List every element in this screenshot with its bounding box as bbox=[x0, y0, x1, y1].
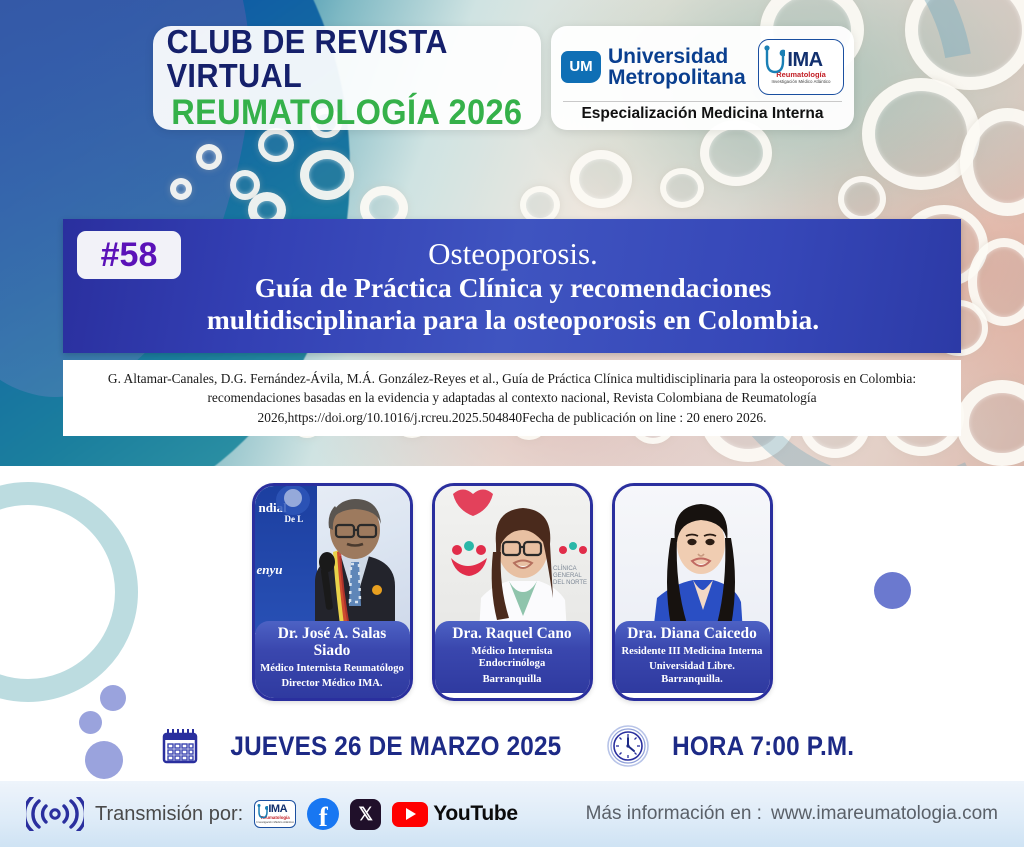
svg-text:DEL NORTE: DEL NORTE bbox=[553, 580, 587, 586]
calendar-icon bbox=[160, 726, 200, 766]
speaker-name: Dra. Raquel Cano bbox=[438, 626, 587, 643]
ima-wordmark: IMA bbox=[268, 804, 287, 815]
svg-text:CLÍNICA: CLÍNICA bbox=[553, 565, 577, 572]
club-title-line2: REUMATOLOGÍA 2026 bbox=[171, 95, 522, 131]
event-time-item: HORA 7:00 P.M. bbox=[606, 724, 864, 768]
svg-text:GENERAL: GENERAL bbox=[553, 573, 582, 579]
youtube-label: YouTube bbox=[433, 802, 518, 826]
poster-root: CLUB DE REVISTA VIRTUAL REUMATOLOGÍA 202… bbox=[0, 0, 1024, 847]
speaker-role-line2: Director Médico IMA. bbox=[258, 678, 407, 691]
university-name-line2: Metropolitana bbox=[608, 67, 746, 88]
article-title-line1: Osteoporosis. bbox=[83, 236, 943, 271]
article-title: Osteoporosis. Guía de Práctica Clínica y… bbox=[63, 236, 961, 335]
event-time-text: HORA 7:00 P.M. bbox=[672, 731, 854, 762]
footer-bar: Transmisión por: IMA Reumatología Invest… bbox=[0, 781, 1024, 847]
facebook-icon[interactable]: f bbox=[307, 798, 339, 830]
article-title-line2: Guía de Práctica Clínica y recomendacion… bbox=[83, 272, 943, 304]
broadcast-label: Transmisión por: bbox=[95, 803, 243, 826]
article-title-line3: multidisciplinaria para la osteoporosis … bbox=[83, 304, 943, 336]
university-name: Universidad Metropolitana bbox=[608, 46, 746, 88]
more-info-label: Más información en : bbox=[586, 803, 762, 825]
clock-icon bbox=[606, 724, 650, 768]
logo-divider bbox=[563, 101, 842, 102]
x-twitter-icon[interactable]: 𝕏 bbox=[350, 799, 381, 830]
broadcast-group: Transmisión por: IMA Reumatología Invest… bbox=[26, 797, 518, 831]
speaker-photo bbox=[615, 486, 770, 633]
ima-logo-footer[interactable]: IMA Reumatología Investigación Médico At… bbox=[254, 800, 296, 828]
speaker-role-line1: Residente III Medicina Interna bbox=[618, 646, 767, 659]
stethoscope-icon bbox=[763, 45, 785, 85]
ima-wordmark: IMA bbox=[787, 50, 822, 70]
speaker-nameplate: Dr. José A. Salas Siado Médico Internist… bbox=[255, 621, 410, 698]
institution-logo-pill: UM Universidad Metropolitana IMA Reumato… bbox=[551, 26, 854, 130]
speakers-row: ndial De L enyu bbox=[0, 483, 1024, 701]
broadcast-icon bbox=[26, 797, 84, 831]
speaker-name: Dr. José A. Salas Siado bbox=[258, 626, 407, 660]
article-title-line3-plain: multidisciplinaria para la bbox=[207, 304, 513, 335]
university-metropolitana-mark-icon: UM bbox=[561, 51, 601, 83]
youtube-link[interactable]: YouTube bbox=[392, 802, 518, 827]
speaker-nameplate: Dra. Diana Caicedo Residente III Medicin… bbox=[615, 621, 770, 693]
more-info-group: Más información en : www.imareumatologia… bbox=[586, 803, 998, 825]
speaker-card[interactable]: ndial De L enyu bbox=[252, 483, 413, 701]
speaker-card[interactable]: CLÍNICA GENERAL DEL NORTE bbox=[432, 483, 593, 701]
speaker-card[interactable]: Dra. Diana Caicedo Residente III Medicin… bbox=[612, 483, 773, 701]
event-date-item: JUEVES 26 DE MARZO 2025 bbox=[160, 726, 580, 766]
episode-number-badge: #58 bbox=[77, 231, 181, 279]
speaker-name: Dra. Diana Caicedo bbox=[618, 626, 767, 643]
ima-logo: IMA Reumatología Investigación Médico At… bbox=[758, 39, 844, 95]
club-title-line1: CLUB DE REVISTA VIRTUAL bbox=[167, 25, 528, 92]
speaker-role-line1: Médico Internista Endocrinóloga bbox=[438, 646, 587, 671]
article-title-line3-bold: osteoporosis en Colombia. bbox=[513, 304, 819, 335]
event-datetime-row: JUEVES 26 DE MARZO 2025 HORA 7:00 P.M. bbox=[0, 718, 1024, 774]
speaker-nameplate: Dra. Raquel Cano Médico Internista Endoc… bbox=[435, 621, 590, 693]
logo-row: UM Universidad Metropolitana IMA Reumato… bbox=[561, 34, 844, 100]
speaker-role-line2: Barranquilla bbox=[438, 674, 587, 687]
youtube-play-icon bbox=[392, 802, 428, 827]
article-title-banner: #58 Osteoporosis. Guía de Práctica Clíni… bbox=[63, 219, 961, 353]
speaker-photo: CLÍNICA GENERAL DEL NORTE bbox=[435, 486, 590, 633]
speaker-photo: ndial De L enyu bbox=[255, 486, 410, 633]
citation-box: G. Altamar-Canales, D.G. Fernández-Ávila… bbox=[63, 360, 961, 436]
event-title-pill: CLUB DE REVISTA VIRTUAL REUMATOLOGÍA 202… bbox=[153, 26, 541, 130]
stethoscope-icon bbox=[257, 804, 268, 824]
event-date-text: JUEVES 26 DE MARZO 2025 bbox=[230, 731, 561, 762]
speaker-role-line1: Médico Internista Reumatólogo bbox=[258, 663, 407, 676]
university-name-line1: Universidad bbox=[608, 46, 746, 67]
program-name: Especialización Medicina Interna bbox=[561, 105, 844, 124]
speaker-role-line2: Universidad Libre. Barranquilla. bbox=[618, 661, 767, 686]
website-url[interactable]: www.imareumatologia.com bbox=[771, 803, 998, 825]
